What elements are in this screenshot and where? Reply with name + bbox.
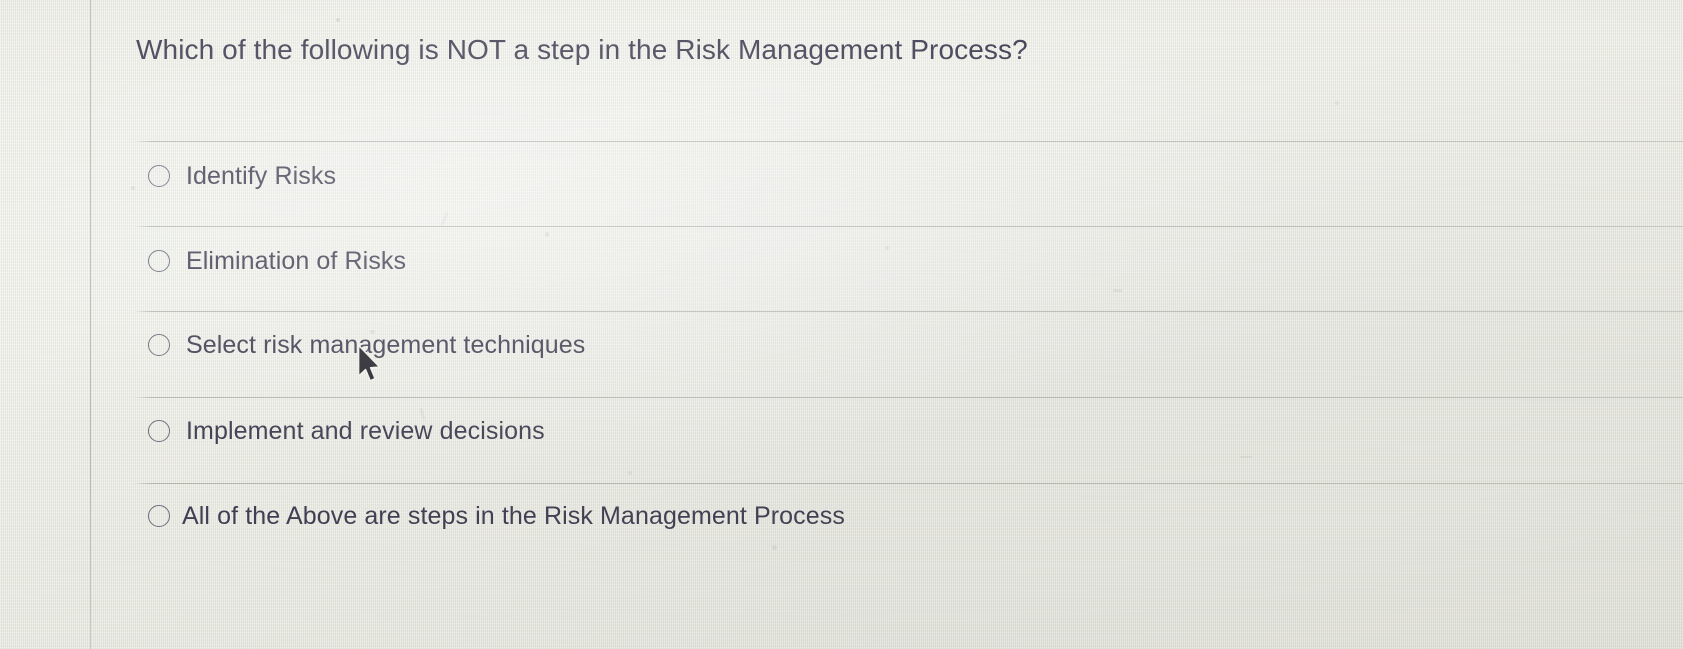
dust-speck	[1335, 101, 1339, 105]
radio-unchecked-icon[interactable]	[148, 250, 170, 272]
answer-option-row[interactable]: Identify Risks	[0, 141, 1683, 226]
option-separator	[133, 226, 1683, 227]
quiz-question-panel: Which of the following is NOT a step in …	[0, 0, 1683, 649]
answer-option-label: All of the Above are steps in the Risk M…	[182, 501, 845, 531]
option-separator	[133, 483, 1683, 484]
answer-option-row[interactable]: Select risk management techniques	[0, 311, 1683, 396]
radio-unchecked-icon[interactable]	[148, 165, 170, 187]
question-prompt: Which of the following is NOT a step in …	[136, 32, 1536, 67]
answer-option-row[interactable]: Implement and review decisions	[0, 397, 1683, 482]
answer-option-row[interactable]: All of the Above are steps in the Risk M…	[0, 483, 1683, 568]
dust-speck	[336, 18, 340, 22]
option-separator	[133, 311, 1683, 312]
answer-option-label: Elimination of Risks	[186, 246, 406, 276]
radio-unchecked-icon[interactable]	[148, 505, 170, 527]
answer-option-label: Implement and review decisions	[186, 416, 545, 446]
option-separator	[133, 141, 1683, 142]
answer-option-label: Select risk management techniques	[186, 330, 585, 360]
option-separator	[133, 397, 1683, 398]
radio-unchecked-icon[interactable]	[148, 334, 170, 356]
answer-option-label: Identify Risks	[186, 161, 336, 191]
radio-unchecked-icon[interactable]	[148, 420, 170, 442]
answer-option-row[interactable]: Elimination of Risks	[0, 226, 1683, 311]
